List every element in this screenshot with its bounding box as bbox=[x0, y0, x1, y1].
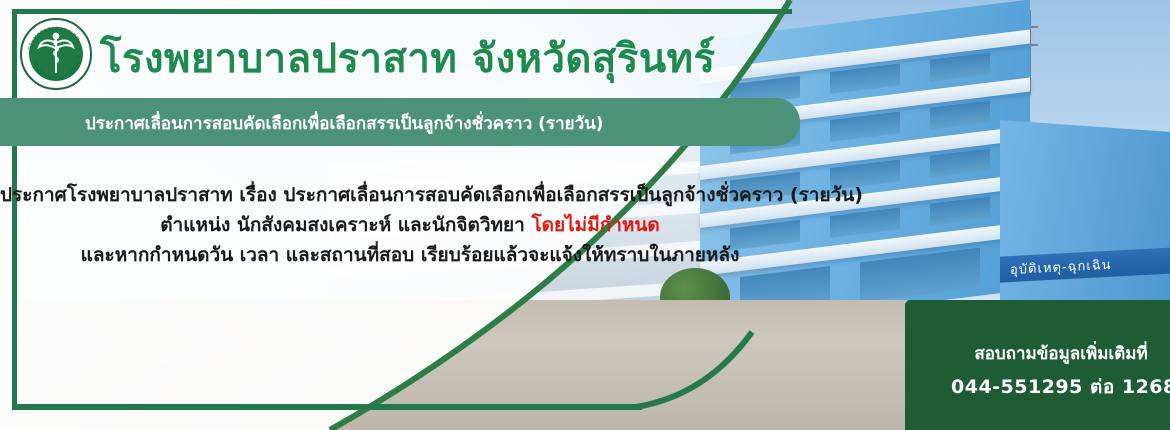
announcement-subtitle-banner: ประกาศเลื่อนการสอบคัดเลือกเพื่อเลือกสรรเ… bbox=[0, 98, 800, 146]
body-line-2-highlight: โดยไม่มีกำหนด bbox=[531, 214, 659, 236]
announcement-body: ประกาศโรงพยาบาลปราสาท เรื่อง ประกาศเลื่อ… bbox=[0, 180, 820, 270]
body-line-2-prefix: ตำแหน่ง นักสังคมสงเคราะห์ และนักจิตวิทยา bbox=[160, 214, 531, 236]
main-hospital-building bbox=[700, 0, 1030, 330]
ministry-of-public-health-logo: กระทรวงสาธารณสุข MINISTRY OF PUBLIC HEAL… bbox=[20, 18, 92, 90]
logo-thai-text-arc: กระทรวงสาธารณสุข MINISTRY OF PUBLIC HEAL… bbox=[20, 18, 92, 90]
contact-panel: สอบถามข้อมูลเพิ่มเติมที่ 044-551295 ต่อ … bbox=[905, 300, 1170, 430]
frame-line-bottom bbox=[12, 404, 642, 410]
contact-label: สอบถามข้อมูลเพิ่มเติมที่ bbox=[951, 340, 1170, 367]
announcement-subtitle-text: ประกาศเลื่อนการสอบคัดเลือกเพื่อเลือกสรรเ… bbox=[85, 110, 604, 137]
svg-text:กระทรวงสาธารณสุข: กระทรวงสาธารณสุข bbox=[26, 25, 82, 51]
hospital-announcement-banner: อุบัติเหตุ-ฉุกเฉิน bbox=[0, 0, 1170, 430]
svg-text:MINISTRY OF PUBLIC HEALTH: MINISTRY OF PUBLIC HEALTH bbox=[20, 18, 82, 82]
body-line-2: ตำแหน่ง นักสังคมสงเคราะห์ และนักจิตวิทยา… bbox=[0, 210, 820, 240]
body-line-1: ประกาศโรงพยาบาลปราสาท เรื่อง ประกาศเลื่อ… bbox=[0, 180, 820, 210]
page-title: โรงพยาบาลปราสาท จังหวัดสุรินทร์ bbox=[100, 26, 716, 90]
emergency-sign-text: อุบัติเหตุ-ฉุกเฉิน bbox=[1010, 254, 1112, 280]
body-line-3: และหากกำหนดวัน เวลา และสถานที่สอบ เรียบร… bbox=[0, 240, 820, 270]
contact-phone: 044-551295 ต่อ 1268 bbox=[951, 372, 1170, 402]
frame-line-top bbox=[12, 9, 792, 14]
